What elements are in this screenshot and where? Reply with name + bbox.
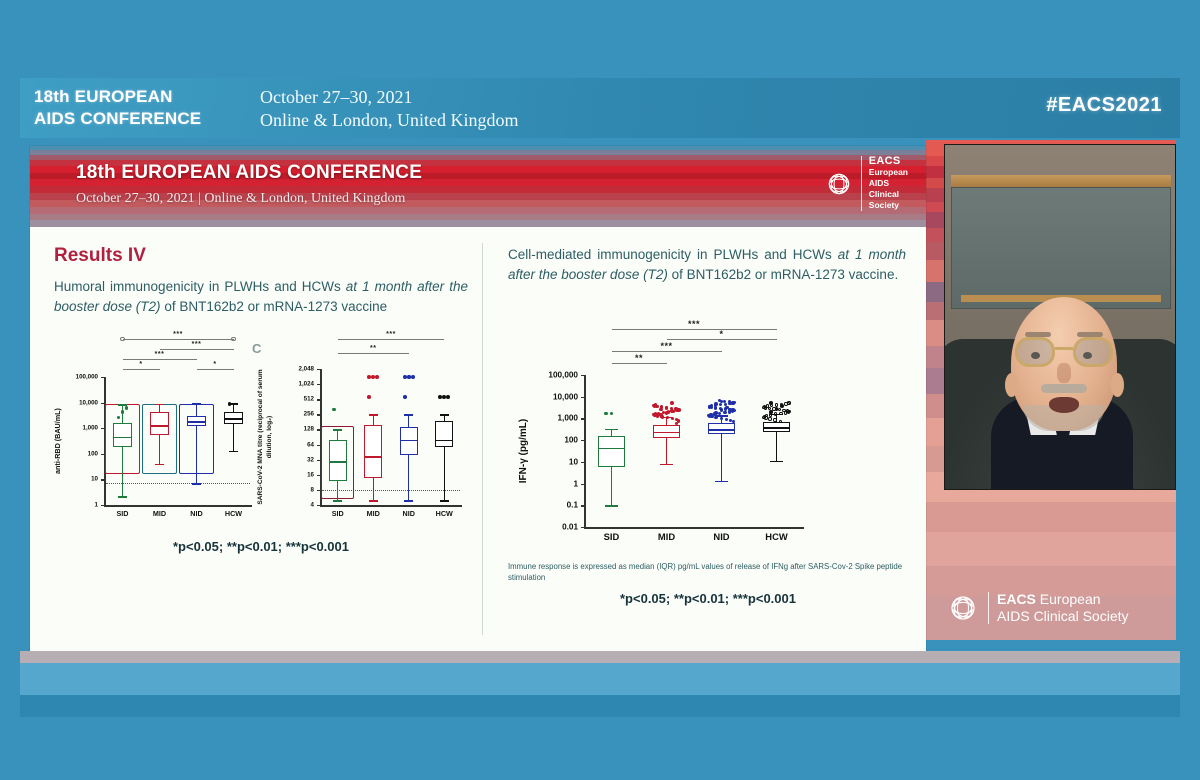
y-axis-tick-label: 512 [268,396,314,403]
y-axis-tick-label: 1,000 [58,425,98,432]
y-axis [584,375,586,527]
y-axis-tick-label: 1,024 [268,381,314,388]
bottom-band-dark [20,695,1180,717]
presenter-video-tile[interactable] [944,144,1176,490]
significance-bar [123,369,160,370]
y-tick-mark [101,403,104,404]
outlier-point [411,375,415,379]
header-stripe [30,207,926,214]
right-desc-part1: Cell-mediated immunogenicity in PLWHs an… [508,247,838,262]
stripe [926,532,1176,566]
results-title: Results IV [54,245,468,267]
presentation-stage: 18th EUROPEAN AIDS CONFERENCE October 27… [0,0,1200,780]
eacs-logo-text: EACS European AIDS Clinical Society [861,156,908,211]
significance-stars: * [213,361,216,368]
y-tick-mark [317,414,320,415]
scatter-point [713,412,716,415]
y-axis-tick-label: 128 [268,426,314,433]
box-plot-median [598,448,624,450]
box-plot-median [329,461,347,463]
right-column-description: Cell-mediated immunogenicity in PLWHs an… [508,245,906,285]
left-column-description: Humoral immunogenicity in PLWHs and HCWs… [54,277,468,317]
y-axis-tick-label: 10,000 [526,392,578,401]
whisker-cap-lower [192,483,201,484]
scatter-point [725,418,728,421]
significance-endpoint [120,337,125,342]
whisker-cap-lower [404,500,413,501]
box-plot-box [150,412,169,435]
bookshelf-top [951,175,1171,187]
scatter-point [714,404,717,407]
significance-bar [612,363,667,364]
y-axis-label: SARS-CoV-2 MNA titre (reciprocal of seru… [257,369,274,505]
outlier-point [604,412,608,416]
y-tick-mark [581,418,584,419]
outlier-point [446,395,450,399]
box-plot-box [435,421,453,448]
scatter-point [779,412,782,415]
conference-name-line1: 18th EUROPEAN [34,86,201,108]
column-divider [482,243,483,635]
eacs-knot-logo-icon [824,169,854,199]
ear-left [1005,373,1018,397]
whisker-cap-lower [118,496,127,497]
whisker-cap-upper [605,429,618,430]
slide-header-subtitle: October 27–30, 2021 | Online & London, U… [76,191,405,207]
scatter-point [660,405,663,408]
box-plot-box [364,425,382,478]
y-axis-tick-label: 32 [268,456,314,463]
box-plot-median [364,456,382,458]
box-plot-box [598,436,624,467]
outlier-point [367,395,371,399]
x-axis-tick-label: MID [367,509,380,518]
whisker [233,403,234,451]
x-axis-tick-label: MID [153,509,166,518]
conference-dates: October 27–30, 2021 [260,86,518,109]
conference-name: 18th EUROPEAN AIDS CONFERENCE [34,86,201,130]
scatter-point [782,409,785,412]
y-tick-mark [317,490,320,491]
x-axis-tick-label: NID [403,509,415,518]
whisker-cap-lower [333,500,342,501]
threshold-line [106,483,250,484]
right-pvalue-legend: *p<0.05; **p<0.01; ***p<0.001 [508,591,908,606]
right-desc-part2: of BNT162b2 or mRNA-1273 vaccine. [668,267,898,282]
whisker [666,417,667,464]
whisker-cap-lower [440,500,449,501]
whisker-cap-lower [660,464,673,465]
eacs-logo-acronym: EACS [869,156,908,167]
whisker-cap-upper [155,404,164,405]
box-plot-median [113,437,132,439]
scatter-point [719,403,722,406]
presentation-slide[interactable]: 18th EUROPEAN AIDS CONFERENCE October 27… [30,146,926,654]
bookshelf [951,187,1171,309]
box-plot-median [400,440,418,442]
box-plot-box [113,423,132,447]
eacs-knot-logo-icon [946,591,980,625]
x-axis-tick-label: HCW [765,531,787,542]
scatter-point [720,417,723,420]
watermark-line1: European [1040,591,1101,607]
y-axis-tick-label: 1 [58,502,98,509]
conference-name-line2: AIDS CONFERENCE [34,108,201,130]
y-tick-mark [317,429,320,430]
whisker-cap-upper [192,403,201,404]
significance-stars: *** [660,341,672,351]
right-column: Cell-mediated immunogenicity in PLWHs an… [508,245,906,285]
scatter-point [666,416,669,419]
significance-bar [123,359,197,360]
x-axis-tick-label: MID [658,531,675,542]
left-pvalue-legend: *p<0.05; **p<0.01; ***p<0.001 [54,539,468,554]
y-axis-tick-label: 10 [526,457,578,466]
whisker-cap-lower [715,481,728,482]
outlier-point [332,408,336,412]
scatter-point [674,407,677,410]
slide-header-title: 18th EUROPEAN AIDS CONFERENCE [76,162,422,184]
significance-bar [160,349,234,350]
right-method-note: Immune response is expressed as median (… [508,561,908,583]
significance-endpoint [231,337,236,342]
y-tick-mark [317,460,320,461]
y-axis-tick-label: 0.01 [526,523,578,532]
eacs-logo-line-3: Clinical [869,189,899,199]
y-tick-mark [101,505,104,506]
significance-bar [197,369,234,370]
y-tick-mark [317,505,320,506]
whisker-cap-lower [605,505,618,506]
significance-bar [667,339,777,340]
whisker-cap-upper [369,414,378,415]
x-axis-tick-label: SID [332,509,344,518]
whisker-cap-lower [155,464,164,465]
x-axis-tick-label: SID [117,509,129,518]
whisker-cap-lower [770,461,783,462]
scatter-point [731,408,734,411]
scatter-point [768,417,771,420]
left-desc-part1: Humoral immunogenicity in PLWHs and HCWs [54,279,346,294]
y-axis-tick-label: 16 [268,471,314,478]
scatter-point [728,408,731,411]
slide-header-banner: 18th EUROPEAN AIDS CONFERENCE October 27… [30,146,926,227]
scatter-point [724,407,727,410]
scatter-point [773,418,776,421]
panel-letter-c: C [252,341,261,356]
y-axis-tick-label: 100 [58,450,98,457]
y-tick-mark [581,397,584,398]
y-tick-mark [317,369,320,370]
box-plot-median [708,429,734,431]
box-plot-median [435,440,453,442]
significance-stars: *** [386,331,396,338]
x-axis [584,527,804,529]
significance-bar [612,351,722,352]
lens-right [1073,337,1113,367]
left-column: Results IV Humoral immunogenicity in PLW… [54,245,468,317]
scatter-point [786,409,789,412]
y-tick-mark [317,399,320,400]
outlier-point [228,402,232,406]
watermark-line2: AIDS Clinical Society [997,608,1129,625]
watermark-text: EACS European AIDS Clinical Society [997,591,1129,625]
box-plot-median [653,432,679,434]
y-tick-mark [101,454,104,455]
chart-anti-rbd[interactable]: 1101001,00010,000100,000SIDMIDNIDHCWanti… [58,333,258,523]
scatter-point [661,415,664,418]
eacs-watermark: EACS European AIDS Clinical Society [946,586,1170,630]
y-axis-tick-label: 10 [58,476,98,483]
x-axis-tick-label: HCW [225,509,242,518]
scatter-point [723,411,726,414]
x-axis-tick-label: NID [713,531,729,542]
significance-stars: * [139,361,142,368]
scatter-point [766,404,769,407]
y-axis-tick-label: 100,000 [526,371,578,380]
scatter-point [714,416,717,419]
y-tick-mark [317,445,320,446]
y-axis-label: anti-RBD (BAU/mL) [53,377,62,505]
significance-bar [612,329,777,330]
whisker-cap-upper [333,429,342,430]
eacs-logo-line-4: Society [869,200,899,210]
chart-mna-titre[interactable]: 481632641282565121,0242,048SIDMIDNIDHCWS… [268,327,468,523]
whisker-cap-lower [229,451,238,452]
outlier-point [367,375,371,379]
significance-bar [338,353,409,354]
whisker-cap-lower [369,500,378,501]
eacs-logo-line-1: European [869,167,908,177]
ear-right [1111,373,1124,397]
whisker-cap-upper [404,414,413,415]
significance-stars: *** [173,331,183,338]
significance-stars: ** [635,353,643,363]
moustache [1041,384,1087,393]
y-tick-mark [581,375,584,376]
x-axis-tick-label: NID [190,509,202,518]
y-tick-mark [581,505,584,506]
y-axis-tick-label: 256 [268,411,314,418]
significance-bar [123,339,234,340]
scatter-point [772,407,775,410]
nose [1057,363,1071,383]
outlier-point [407,375,411,379]
scatter-point [787,401,790,404]
whisker [122,404,123,496]
glasses-bridge [1055,347,1073,350]
y-tick-mark [101,428,104,429]
y-tick-mark [581,462,584,463]
y-tick-mark [101,377,104,378]
outlier-point [375,375,379,379]
scatter-point [671,417,674,420]
x-axis-tick-label: SID [604,531,620,542]
y-axis-tick-label: 2,048 [268,366,314,373]
outlier-point [125,406,129,410]
y-axis-tick-label: 100 [526,436,578,445]
webinar-top-banner: 18th EUROPEAN AIDS CONFERENCE October 27… [20,78,1180,138]
outlier-point [610,412,614,416]
y-axis-tick-label: 0.1 [526,501,578,510]
significance-bar [338,339,445,340]
significance-stars: * [719,329,723,339]
y-axis-label: IFN-γ (pg/mL) [518,375,530,527]
whisker-cap-upper [440,414,449,415]
y-tick-mark [101,479,104,480]
eacs-logo: EACS European AIDS Clinical Society [824,156,908,211]
scatter-point [667,410,670,413]
y-tick-mark [317,384,320,385]
y-axis-tick-label: 64 [268,441,314,448]
lens-left [1015,337,1055,367]
mouth [1049,397,1079,413]
outlier-point [403,395,407,399]
outlier-point [670,401,674,405]
watermark-divider [988,592,989,624]
box-plot-median [224,418,243,420]
eacs-logo-line-2: AIDS [869,178,889,188]
significance-stars: *** [155,351,165,358]
significance-stars: *** [192,341,202,348]
scatter-point [778,408,781,411]
significance-stars: ** [370,345,376,352]
y-axis-tick-label: 8 [268,486,314,493]
box-plot-median [187,421,206,423]
conference-hashtag: #EACS2021 [1046,94,1162,117]
y-axis-tick-label: 10,000 [58,399,98,406]
y-axis-tick-label: 1 [526,479,578,488]
box-plot-median [763,427,789,429]
conference-meta: October 27–30, 2021 Online & London, Uni… [260,86,518,132]
conference-location: Online & London, United Kingdom [260,109,518,132]
y-tick-mark [581,440,584,441]
significance-stars: *** [688,319,700,329]
header-stripe [30,220,926,227]
x-axis [104,505,252,507]
left-desc-part2: of BNT162b2 or mRNA-1273 vaccine [161,299,388,314]
y-axis-tick-label: 4 [268,502,314,509]
scatter-point [769,413,772,416]
stripe [926,502,1176,532]
y-axis-tick-label: 1,000 [526,414,578,423]
x-axis-tick-label: HCW [436,509,453,518]
y-tick-mark [581,527,584,528]
y-tick-mark [317,475,320,476]
y-tick-mark [581,484,584,485]
y-axis-tick-label: 100,000 [58,374,98,381]
scatter-point [775,403,778,406]
slide-shadow-strip [20,651,1180,663]
box-plot-median [150,425,169,427]
watermark-acronym: EACS [997,591,1036,607]
slide-body: Results IV Humoral immunogenicity in PLW… [30,227,926,654]
bottom-band-light [20,663,1180,695]
x-axis [320,505,462,507]
chart-ifn-gamma[interactable]: 0.010.11101001,00010,000100,000SIDMIDNID… [526,323,812,549]
